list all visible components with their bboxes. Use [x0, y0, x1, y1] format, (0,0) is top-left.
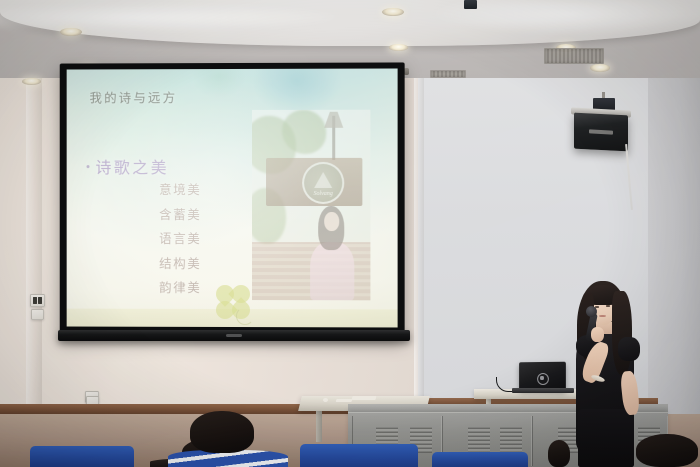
audience-head — [636, 434, 698, 467]
presenter-sleeve-right — [618, 337, 640, 361]
wall-speaker — [574, 113, 628, 152]
slide-sub-item: 韵律美 — [159, 277, 201, 296]
bullet-dot-icon — [87, 165, 90, 168]
slide-photo: Solvang — [252, 110, 370, 301]
slide-sub-item: 语言美 — [159, 228, 201, 247]
sprinkler-icon — [404, 68, 409, 75]
slide-sub-item: 意境美 — [159, 179, 201, 198]
chair-back — [30, 446, 134, 467]
podium-remote[interactable] — [352, 396, 377, 400]
slide-decor-blob — [192, 68, 246, 99]
lecture-hall-scene: 我的诗与远方 诗歌之美 意境美 含蓄美 语言美 结构美 韵律美 — [0, 0, 700, 467]
slide-sub-item: 含蓄美 — [159, 203, 201, 222]
podium-paper — [336, 399, 353, 402]
chair-back — [432, 452, 528, 467]
downlight-icon — [22, 78, 41, 85]
chair-back — [300, 444, 418, 467]
photo-sign-logo: Solvang — [302, 162, 344, 204]
light-switch-plate[interactable] — [30, 294, 45, 307]
podium-knob[interactable] — [323, 398, 328, 402]
audience-head — [190, 411, 254, 453]
clover-stem — [236, 307, 254, 325]
photo-sign-text: Solvang — [304, 191, 342, 197]
speaker-logo — [589, 129, 613, 134]
slide-title: 我的诗与远方 — [90, 87, 178, 106]
audience-head — [548, 440, 570, 467]
presenter-hand — [591, 327, 604, 342]
switch-button[interactable] — [33, 297, 37, 304]
presenter-dress-skirt — [578, 409, 634, 467]
screen-bottom-bar — [58, 330, 410, 341]
slide-sub-list: 意境美 含蓄美 语言美 结构美 韵律美 — [159, 179, 201, 296]
photo-woman-face — [324, 212, 339, 231]
wall-pilaster — [26, 60, 42, 415]
photo-logo-shape — [314, 172, 332, 188]
switch-button[interactable] — [38, 297, 42, 304]
downlight-icon — [590, 64, 610, 72]
slide-bullet-label: 诗歌之美 — [95, 154, 169, 178]
slide-clover-decor — [214, 283, 256, 327]
presentation-slide: 我的诗与远方 诗歌之美 意境美 含蓄美 语言美 结构美 韵律美 — [67, 68, 398, 327]
screen-pull-knob[interactable] — [226, 334, 242, 337]
presenter-eye — [606, 305, 610, 307]
laptop[interactable] — [519, 362, 566, 391]
projection-screen: 我的诗与远方 诗歌之美 意境美 含蓄美 语言美 结构美 韵律美 — [60, 62, 405, 338]
downlight-icon — [389, 44, 408, 51]
slide-bullet: 诗歌之美 — [87, 154, 170, 178]
slide-sub-item: 结构美 — [159, 252, 201, 271]
ceiling-vent — [544, 48, 604, 64]
cabinet-vent — [468, 427, 490, 453]
presenter — [560, 279, 652, 467]
podium-leg — [316, 408, 322, 442]
projector-mount — [464, 0, 477, 9]
photo-tree — [282, 110, 326, 154]
ceiling-vent — [430, 70, 466, 78]
photo-woman-body — [310, 242, 354, 300]
wall-outlet-plate[interactable] — [31, 309, 44, 320]
ceiling-glow-left — [0, 2, 350, 32]
downlight-icon — [60, 28, 82, 36]
downlight-icon — [382, 8, 404, 16]
cabinet-vent — [500, 427, 522, 453]
laptop-brand-logo — [537, 373, 549, 385]
presenter-hair-right — [612, 291, 632, 375]
